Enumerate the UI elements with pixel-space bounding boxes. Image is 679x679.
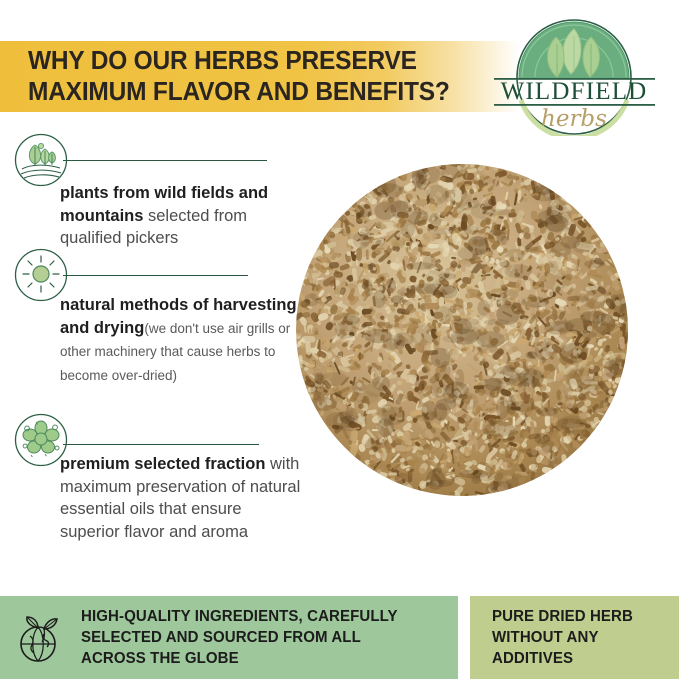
benefit-text-3: premium selected fraction with maximum p… (60, 453, 305, 543)
banner-high-quality: HIGH-QUALITY INGREDIENTS, CAREFULLY SELE… (0, 596, 458, 679)
divider-rule-2 (63, 275, 248, 276)
brand-logo: WILDFIELD herbs (487, 18, 662, 136)
page-title: WHY DO OUR HERBS PRESERVE MAXIMUM FLAVOR… (28, 46, 479, 108)
banner-left-text: HIGH-QUALITY INGREDIENTS, CAREFULLY SELE… (81, 606, 398, 669)
wild-field-plants-icon (14, 133, 68, 187)
benefit-text-1: plants from wild fields and mountains se… (60, 182, 296, 250)
infographic-page: WHY DO OUR HERBS PRESERVE MAXIMUM FLAVOR… (0, 0, 679, 679)
banner-right-text: PURE DRIED HERB WITHOUT ANY ADDITIVES (492, 606, 633, 669)
banner-pure-dried: PURE DRIED HERB WITHOUT ANY ADDITIVES (470, 596, 679, 679)
benefit-bold-3: premium selected fraction (60, 455, 265, 473)
product-image-herb-pile (295, 163, 630, 498)
benefit-text-2: natural methods of harvesting and drying… (60, 294, 300, 387)
divider-rule-3 (63, 444, 259, 445)
logo-wordmark: WILDFIELD (501, 78, 648, 105)
globe-with-leaves-icon (14, 612, 66, 664)
divider-rule-1 (63, 160, 267, 161)
logo-script-word: herbs (541, 106, 607, 132)
